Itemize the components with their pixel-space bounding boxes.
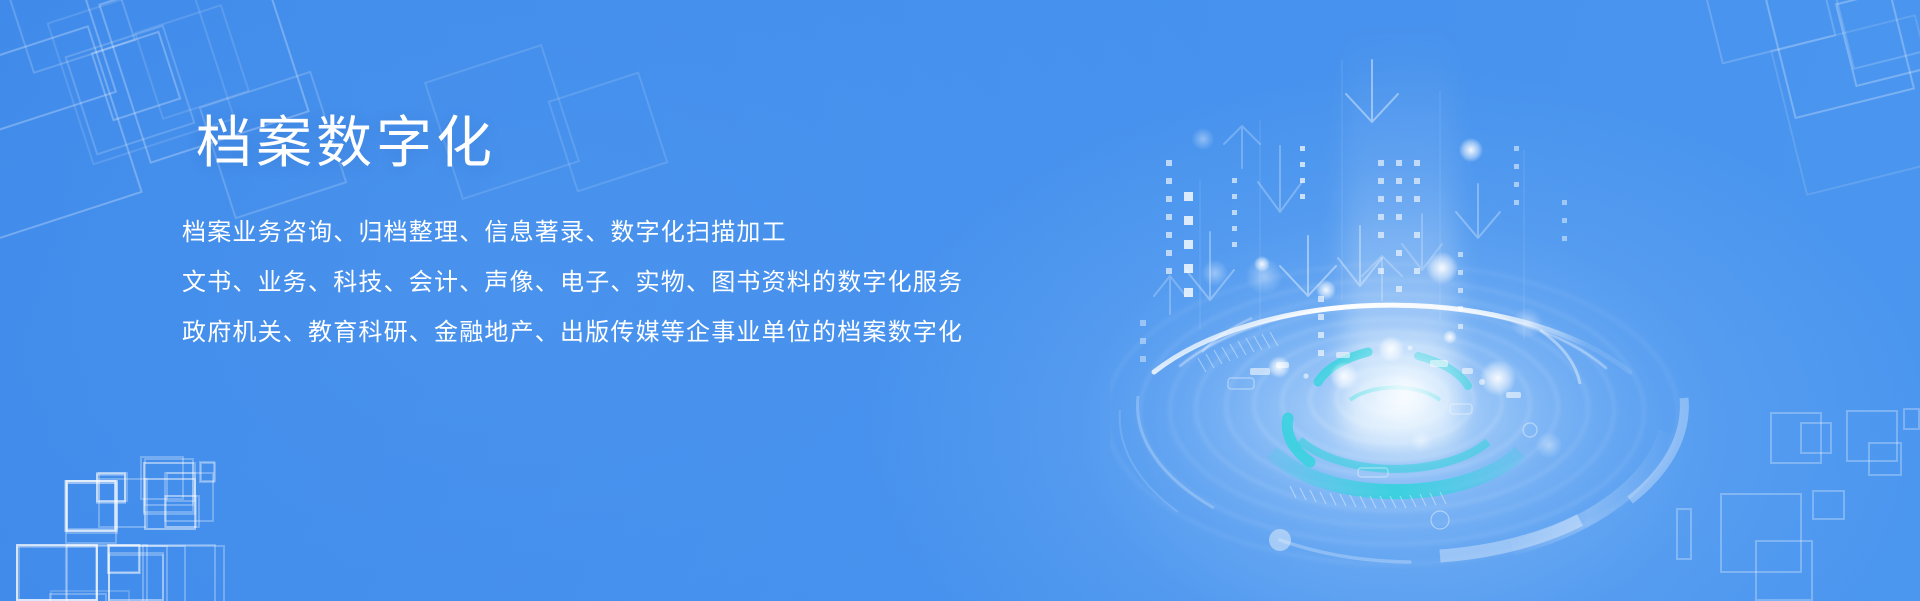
decor-square xyxy=(1720,493,1802,573)
glow-orb xyxy=(1316,280,1336,300)
decor-square xyxy=(1770,412,1822,464)
decor-square xyxy=(107,544,141,574)
decor-square xyxy=(108,552,164,601)
decor-square xyxy=(49,593,107,601)
decor-square xyxy=(98,472,128,502)
decor-square xyxy=(143,462,196,515)
decor-square xyxy=(96,472,126,502)
subtitle-line-3: 政府机关、教育科研、金融地产、出版传媒等企事业单位的档案数字化 xyxy=(182,308,1022,358)
up-chevrons xyxy=(1154,126,1402,314)
decor-square xyxy=(66,482,118,534)
subtitle-line-2: 文书、业务、科技、会计、声像、电子、实物、图书资料的数字化服务 xyxy=(182,258,1022,308)
decor-square xyxy=(16,544,97,601)
decor-square xyxy=(200,462,216,482)
disc-core-glow xyxy=(1325,330,1485,460)
decor-square xyxy=(140,456,184,500)
decor-square xyxy=(96,472,126,502)
decor-square xyxy=(108,554,164,601)
decor-square xyxy=(65,480,117,532)
glow-orb xyxy=(1246,258,1282,294)
decor-square xyxy=(1755,540,1813,601)
disc-hud-outline-chips xyxy=(1228,378,1537,529)
decor-square xyxy=(1903,408,1920,430)
subtitle-line-1: 档案业务咨询、归档整理、信息著录、数字化扫描加工 xyxy=(182,208,1022,258)
decor-square xyxy=(165,495,200,528)
decor-square xyxy=(107,544,140,574)
decor-square xyxy=(1812,490,1845,520)
decor-square xyxy=(108,544,140,573)
decor-square xyxy=(16,544,98,601)
decor-square xyxy=(164,495,197,528)
decor-square xyxy=(65,480,117,544)
glow-orb xyxy=(1480,360,1516,396)
disc-outer-rings xyxy=(1110,264,1678,564)
glow-orb xyxy=(1192,128,1214,150)
decor-square xyxy=(0,0,136,74)
decor-square xyxy=(66,544,148,601)
decor-square xyxy=(144,478,196,530)
glow-orb xyxy=(1459,138,1483,162)
decor-square xyxy=(50,590,130,601)
decor-square xyxy=(91,31,182,122)
decor-square xyxy=(66,482,116,532)
glow-orb xyxy=(1378,336,1404,362)
decor-square xyxy=(143,462,194,513)
decor-square xyxy=(1693,0,1836,65)
decor-square xyxy=(96,473,126,503)
glow-orb xyxy=(1512,308,1542,338)
disc-hud-chips xyxy=(1250,346,1521,398)
disc-tick-marks xyxy=(1198,332,1446,508)
glow-orb xyxy=(1410,430,1432,452)
decor-square xyxy=(96,474,126,504)
data-dot-streams xyxy=(1140,146,1567,362)
decor-square xyxy=(199,461,215,483)
decor-square xyxy=(134,4,250,120)
decor-square xyxy=(1846,410,1898,462)
glow-orb xyxy=(1202,260,1228,286)
down-arrows xyxy=(1186,60,1500,300)
decor-square xyxy=(64,480,116,532)
light-beam xyxy=(1345,20,1455,450)
decor-square xyxy=(1676,508,1692,560)
decor-square xyxy=(166,472,196,502)
glow-orb xyxy=(1330,362,1358,390)
decor-square xyxy=(108,545,186,601)
banner-copy: 档案数字化 档案业务咨询、归档整理、信息著录、数字化扫描加工 文书、业务、科技、… xyxy=(182,108,1022,358)
decor-square xyxy=(16,544,98,601)
decor-square xyxy=(64,24,195,155)
decor-square xyxy=(164,472,214,522)
disc-hud-arcs xyxy=(1120,318,1685,562)
decor-square xyxy=(1800,422,1832,454)
glow-orb xyxy=(1536,432,1562,458)
disc-cyan-accents xyxy=(1272,352,1520,492)
decor-square xyxy=(16,546,98,601)
glow-orb xyxy=(1268,356,1290,378)
decor-square xyxy=(65,545,225,601)
decor-square xyxy=(0,25,143,247)
decor-square xyxy=(1826,0,1920,70)
glow-orb xyxy=(1426,252,1458,284)
disc-rim-arc xyxy=(1154,305,1630,372)
decor-square xyxy=(66,480,118,532)
glow-orb xyxy=(1443,330,1457,344)
decor-square xyxy=(1770,14,1920,196)
decor-square xyxy=(18,545,98,601)
decor-square xyxy=(144,478,196,530)
hero-banner: 档案数字化 档案业务咨询、归档整理、信息著录、数字化扫描加工 文书、业务、科技、… xyxy=(0,0,1920,601)
decor-square xyxy=(1835,0,1920,87)
decor-square xyxy=(108,545,168,601)
glow-orb xyxy=(1254,256,1270,272)
decor-square xyxy=(66,480,118,530)
decor-square xyxy=(0,0,117,133)
decor-square xyxy=(142,544,216,601)
guide-lines xyxy=(1200,60,1524,340)
decor-square xyxy=(98,478,148,528)
decor-square xyxy=(16,544,98,601)
decor-square xyxy=(65,480,116,531)
tech-hud-graphic xyxy=(1110,0,1730,601)
decor-square xyxy=(1765,0,1915,119)
decor-square xyxy=(144,458,194,506)
decor-square xyxy=(1868,442,1902,476)
page-title: 档案数字化 xyxy=(196,108,1022,178)
